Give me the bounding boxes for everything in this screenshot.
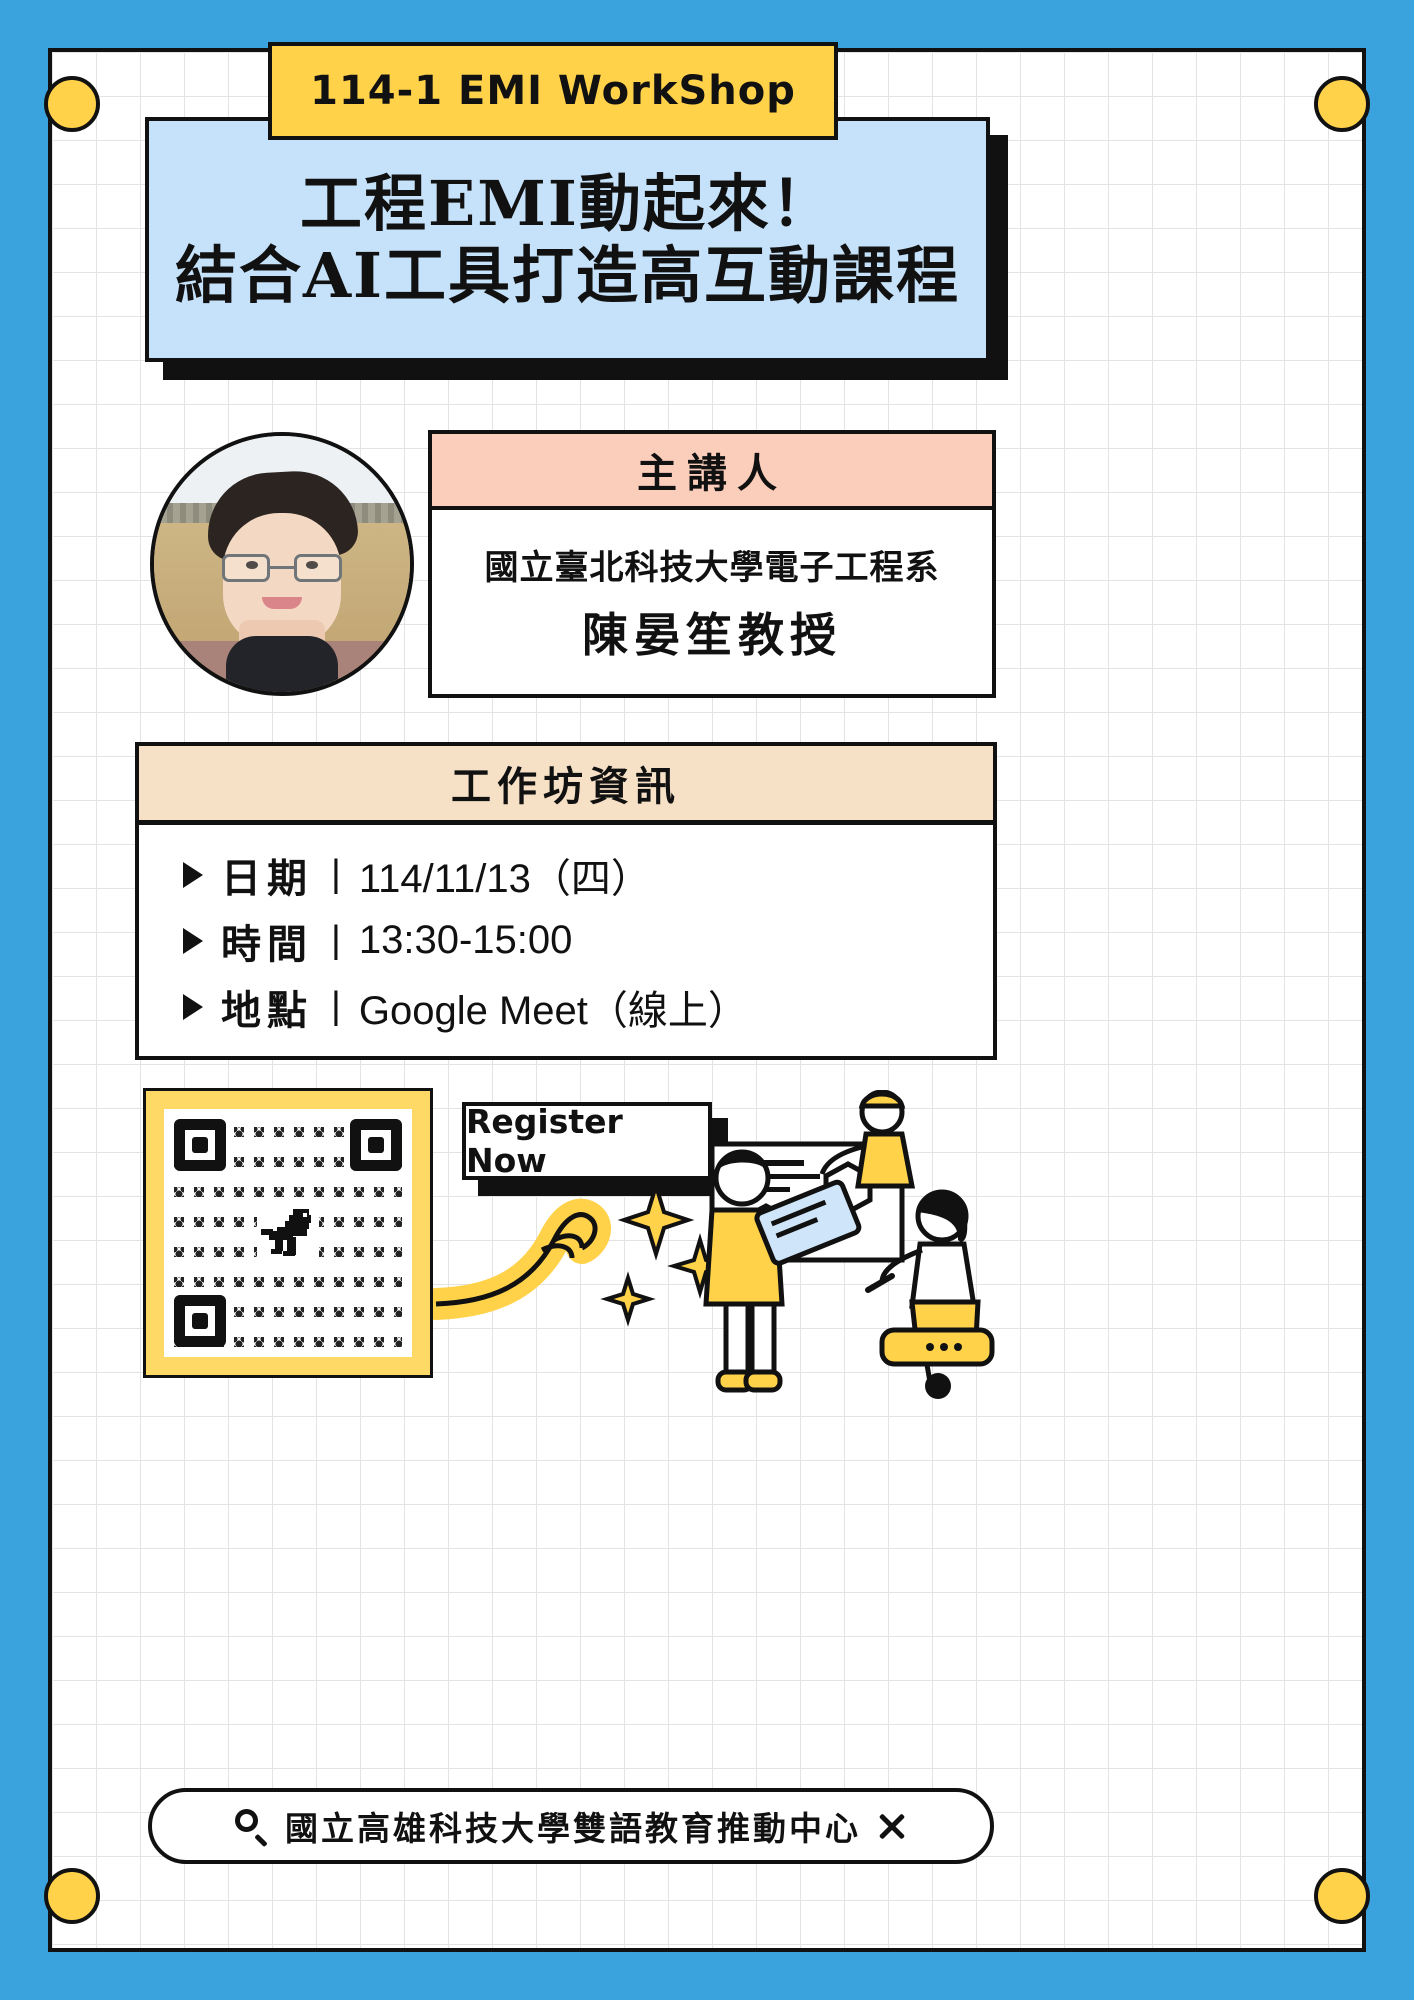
poster-canvas: 114-1 EMI WorkShop 工程EMI動起來！ 結合AI工具打造高互動… [0, 0, 1414, 2000]
qr-dinosaur-logo [257, 1204, 319, 1262]
organization-footer-bar: 國立高雄科技大學雙語教育推動中心 [148, 1788, 994, 1864]
poster-title-box: 工程EMI動起來！ 結合AI工具打造高互動課程 [145, 117, 990, 362]
info-value-location: Google Meet（線上） [359, 978, 748, 1036]
bullet-triangle-icon [183, 928, 203, 954]
speaker-card: 主講人 國立臺北科技大學電子工程系 陳晏笙教授 [428, 430, 996, 698]
speaker-name: 陳晏笙教授 [582, 599, 842, 665]
qr-finder-bottom-left [174, 1295, 226, 1347]
workshop-info-header: 工作坊資訊 [139, 746, 993, 825]
decorative-dot-top-right [1314, 76, 1370, 132]
info-label-date: 日期 [221, 846, 313, 904]
dinosaur-icon [259, 1207, 317, 1259]
workshop-info-header-label: 工作坊資訊 [451, 754, 681, 812]
bullet-triangle-icon [183, 994, 203, 1020]
ribbon-label: 114-1 EMI WorkShop [310, 68, 796, 114]
qr-code-modules [174, 1119, 402, 1347]
info-separator-location: | [331, 985, 341, 1028]
info-label-time: 時間 [221, 912, 313, 970]
search-icon [235, 1809, 269, 1843]
info-separator-time: | [331, 919, 341, 962]
info-separator-date: | [331, 853, 341, 896]
info-value-date: 114/11/13（四） [359, 846, 651, 904]
info-row-date: 日期 | 114/11/13（四） [183, 846, 993, 904]
info-value-time: 13:30-15:00 [359, 918, 573, 963]
avatar-turtleneck [226, 636, 338, 696]
decorative-dot-bottom-right [1314, 1868, 1370, 1924]
speaker-avatar [150, 432, 414, 696]
info-row-location: 地點 | Google Meet（線上） [183, 978, 993, 1036]
decorative-dot-top-left [44, 76, 100, 132]
speaker-card-body: 國立臺北科技大學電子工程系 陳晏笙教授 [432, 510, 992, 694]
qr-code-frame[interactable] [143, 1088, 433, 1378]
workshop-info-list: 日期 | 114/11/13（四） 時間 | 13:30-15:00 地點 | … [139, 825, 993, 1056]
speaker-header-label: 主講人 [637, 441, 787, 499]
info-label-location: 地點 [221, 978, 313, 1036]
speaker-card-header: 主講人 [432, 434, 992, 510]
organization-name: 國立高雄科技大學雙語教育推動中心 [285, 1802, 861, 1850]
avatar-glasses [222, 554, 342, 584]
event-series-ribbon: 114-1 EMI WorkShop [268, 42, 838, 140]
info-row-time: 時間 | 13:30-15:00 [183, 912, 993, 970]
poster-title-line-2: 結合AI工具打造高互動課程 [175, 240, 960, 311]
bullet-triangle-icon [183, 862, 203, 888]
workshop-info-card: 工作坊資訊 日期 | 114/11/13（四） 時間 | 13:30-15:00… [135, 742, 997, 1060]
register-now-button[interactable]: Register Now [462, 1102, 712, 1180]
speaker-affiliation: 國立臺北科技大學電子工程系 [485, 540, 940, 589]
register-button-label: Register Now [466, 1102, 708, 1180]
qr-finder-top-left [174, 1119, 226, 1171]
poster-title-line-1: 工程EMI動起來！ [300, 168, 835, 239]
decorative-dot-bottom-left [44, 1868, 100, 1924]
qr-code-inner[interactable] [164, 1109, 412, 1357]
qr-finder-top-right [350, 1119, 402, 1171]
close-icon [877, 1811, 907, 1841]
